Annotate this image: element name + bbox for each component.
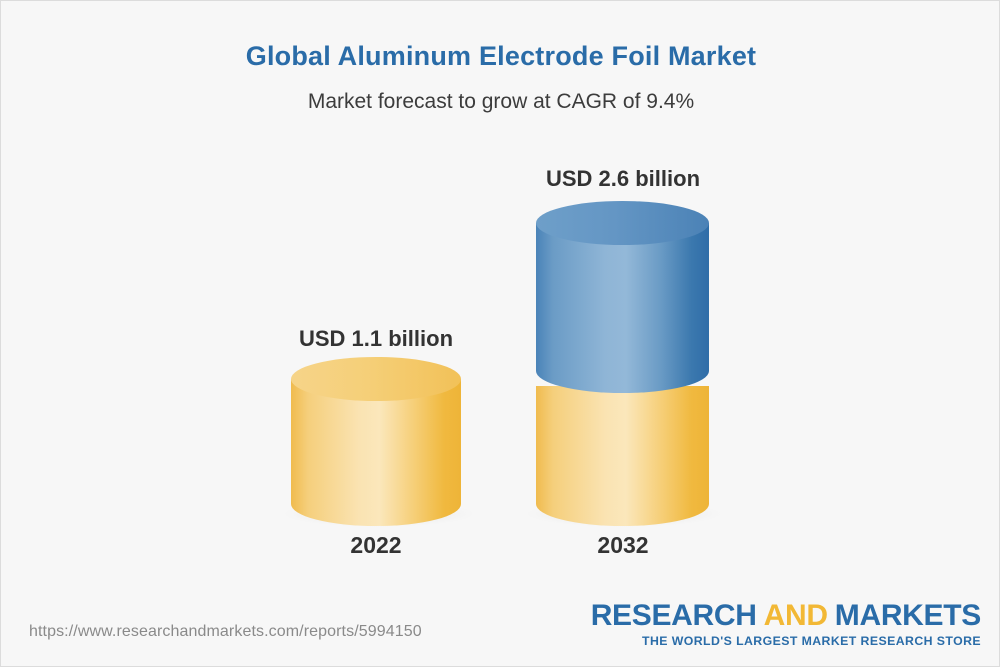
brand-tagline: THE WORLD'S LARGEST MARKET RESEARCH STOR… — [591, 635, 981, 647]
bar-cylinder-2032[interactable] — [536, 201, 709, 526]
brand-word-markets: MARKETS — [835, 599, 981, 632]
value-label-2022: USD 1.1 billion — [241, 326, 511, 352]
bar-2032-blue-segment — [536, 223, 709, 393]
bar-2022-body — [291, 379, 461, 526]
value-label-2032: USD 2.6 billion — [488, 166, 758, 192]
brand-wordmark: RESEARCHANDMARKETS — [591, 601, 981, 631]
brand-word-research: RESEARCH — [591, 599, 757, 632]
brand-word-and: AND — [764, 599, 828, 632]
bar-2032-gold-segment — [536, 386, 709, 526]
category-label-2032: 2032 — [488, 532, 758, 559]
brand-logo: RESEARCHANDMARKETS THE WORLD'S LARGEST M… — [591, 601, 981, 647]
category-label-2022: 2022 — [241, 532, 511, 559]
bar-2032-top-cap — [536, 201, 709, 245]
source-url[interactable]: https://www.researchandmarkets.com/repor… — [29, 623, 422, 641]
bar-cylinder-2022[interactable] — [291, 357, 461, 526]
chart-canvas: Global Aluminum Electrode Foil Market Ma… — [0, 0, 1000, 667]
bar-2022-top-cap — [291, 357, 461, 401]
